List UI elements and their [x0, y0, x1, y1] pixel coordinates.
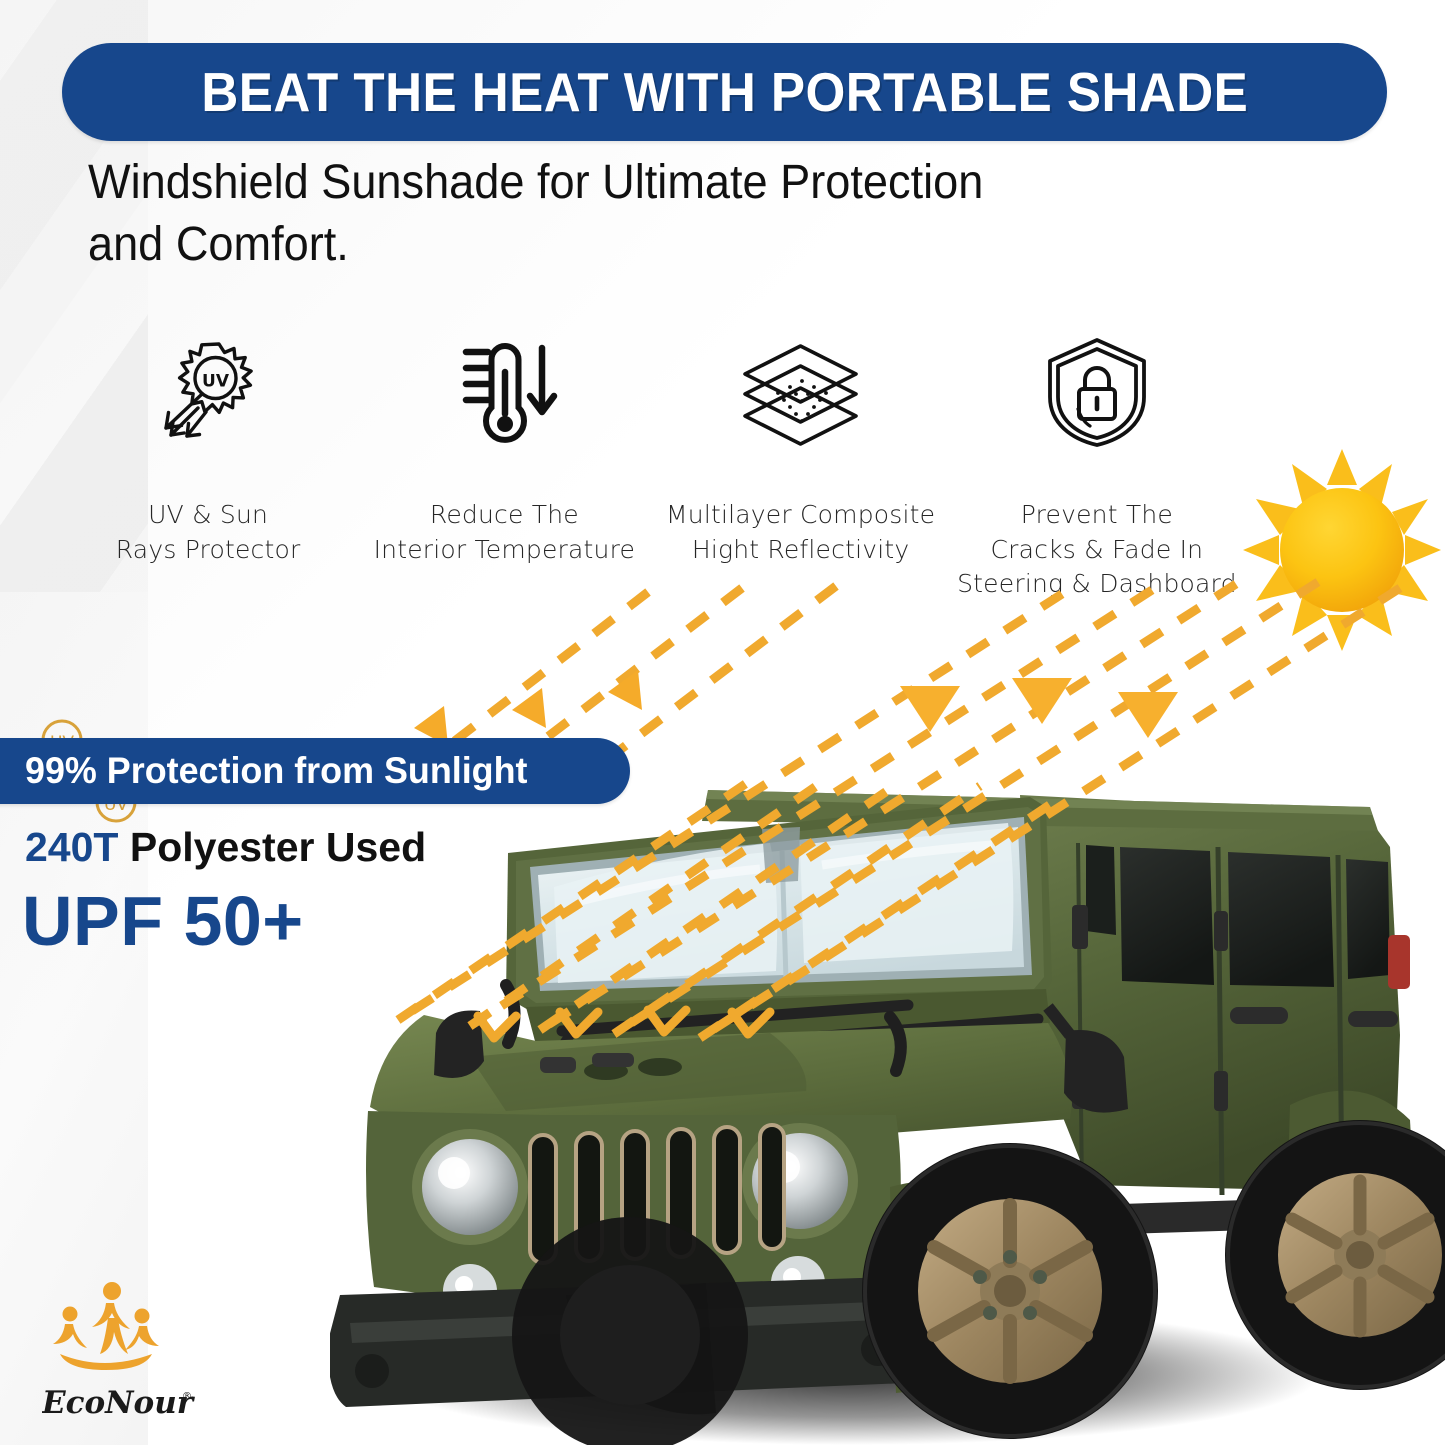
headline-banner: BEAT THE HEAT WITH PORTABLE SHADE [62, 43, 1387, 141]
subtitle-line-2: and Comfort. [88, 214, 1244, 276]
upf-rating: UPF 50+ [22, 881, 304, 961]
polyester-value: 240T [25, 824, 118, 870]
polyester-label: Polyester Used [130, 824, 426, 870]
feature-label-line-3: Steering & Dashboard [957, 567, 1237, 602]
feature-label-line-2: Cracks & Fade In [957, 533, 1237, 568]
econour-logo: EcoNour ® [42, 1278, 212, 1418]
feature-item-uv-protection: UV UV & Sun Rays Protector [60, 335, 356, 595]
feature-label-prevent-cracks: Prevent The Cracks & Fade In Steering & … [957, 498, 1237, 602]
feature-label-line-1: UV & Sun [116, 498, 301, 533]
thermometer-down-arrow-icon [448, 335, 560, 450]
multilayer-stack-icon [738, 335, 863, 450]
jeep-wrangler-vehicle [330, 735, 1445, 1445]
feature-row: UV UV & Sun Rays Protector [60, 335, 1245, 595]
protection-badge-text: 99% Protection from Sunlight [0, 750, 527, 792]
infographic-root: BEAT THE HEAT WITH PORTABLE SHADE Windsh… [0, 0, 1445, 1445]
feature-label-line-2: Interior Temperature [374, 533, 636, 568]
subtitle-line-1: Windshield Sunshade for Ultimate Protect… [88, 152, 1244, 214]
uv-sun-rays-icon: UV [149, 335, 267, 450]
feature-label-line-1: Prevent The [957, 498, 1237, 533]
feature-item-reduce-temperature: Reduce The Interior Temperature [356, 335, 652, 595]
svg-text:UV: UV [202, 372, 230, 392]
econour-brand-text: EcoNour [42, 1385, 196, 1421]
protection-badge: 99% Protection from Sunlight [0, 738, 630, 804]
feature-item-multilayer: Multilayer Composite Hight Reflectivity [653, 335, 949, 595]
subtitle-text: Windshield Sunshade for Ultimate Protect… [88, 152, 1244, 277]
feature-label-line-1: Multilayer Composite [666, 498, 935, 533]
polyester-spec: 240T Polyester Used [25, 824, 426, 871]
shield-lock-icon [1044, 335, 1150, 450]
headline-text: BEAT THE HEAT WITH PORTABLE SHADE [201, 65, 1248, 120]
econour-trademark: ® [182, 1391, 192, 1402]
feature-item-prevent-cracks: Prevent The Cracks & Fade In Steering & … [949, 335, 1245, 595]
feature-label-line-1: Reduce The [374, 498, 636, 533]
feature-label-reduce-temperature: Reduce The Interior Temperature [374, 498, 636, 567]
sun-icon [1239, 447, 1445, 653]
econour-logo-mark [48, 1278, 164, 1374]
feature-label-line-2: Rays Protector [116, 533, 301, 568]
feature-label-line-2: Hight Reflectivity [666, 533, 935, 568]
feature-label-uv-protection: UV & Sun Rays Protector [116, 498, 301, 567]
feature-label-multilayer: Multilayer Composite Hight Reflectivity [666, 498, 935, 567]
econour-logo-wordmark: EcoNour ® [42, 1383, 202, 1423]
